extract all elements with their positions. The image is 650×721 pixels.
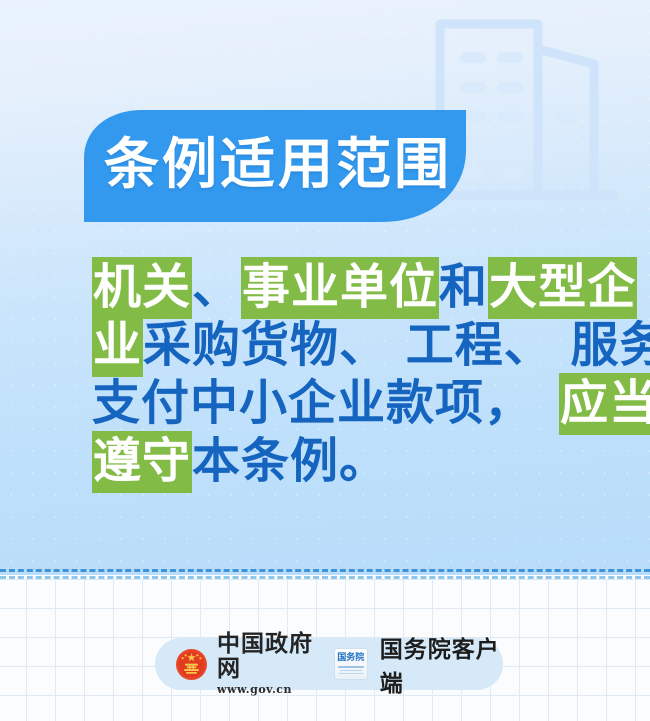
banner-title: 条例适用范围	[104, 128, 452, 200]
highlight-phrase: 事业单位	[241, 257, 439, 319]
gov-site-lockup: 中国政府网 www.gov.cn	[217, 632, 320, 696]
app-icon-label: 国务院	[337, 653, 364, 664]
state-council-app-icon: 国务院	[334, 648, 368, 680]
highlight-phrase: 应当	[559, 373, 650, 435]
footer-bar: 中国政府网 www.gov.cn 国务院 国务院客户端	[155, 638, 503, 690]
divider-line-top	[0, 569, 650, 572]
plain-phrase: 支付中小企业款项，	[92, 375, 533, 431]
plain-phrase: 和	[439, 259, 488, 315]
title-banner: 条例适用范围	[70, 110, 480, 223]
statement-line-4: 遵守本条例。	[92, 432, 592, 490]
plain-phrase: 本条例。	[192, 433, 388, 489]
statement-line-2: 业采购货物、 工程、 服务	[92, 316, 592, 374]
poster-canvas: 条例适用范围 机关、事业单位和大型企 业采购货物、 工程、 服务 支付中小企业款…	[0, 0, 650, 721]
gov-site-url: www.gov.cn	[217, 683, 320, 696]
app-icon-bar	[340, 670, 362, 671]
statement-line-3: 支付中小企业款项，应当	[92, 374, 592, 432]
gov-site-name: 中国政府网	[217, 632, 320, 682]
china-national-emblem-icon	[175, 648, 208, 681]
app-icon-bar	[338, 666, 364, 668]
highlight-phrase: 大型企	[488, 257, 637, 319]
statement-text: 机关、事业单位和大型企 业采购货物、 工程、 服务 支付中小企业款项，应当 遵守…	[92, 258, 592, 490]
highlight-phrase: 机关	[92, 257, 192, 319]
state-council-client-name: 国务院客户端	[380, 630, 503, 698]
app-icon-bar	[339, 673, 363, 674]
highlight-phrase: 业	[92, 315, 143, 377]
plain-phrase: 、	[192, 259, 241, 315]
highlight-phrase: 遵守	[92, 431, 192, 493]
plain-phrase: 采购货物、 工程、 服务	[143, 317, 650, 373]
statement-line-1: 机关、事业单位和大型企	[92, 258, 592, 316]
